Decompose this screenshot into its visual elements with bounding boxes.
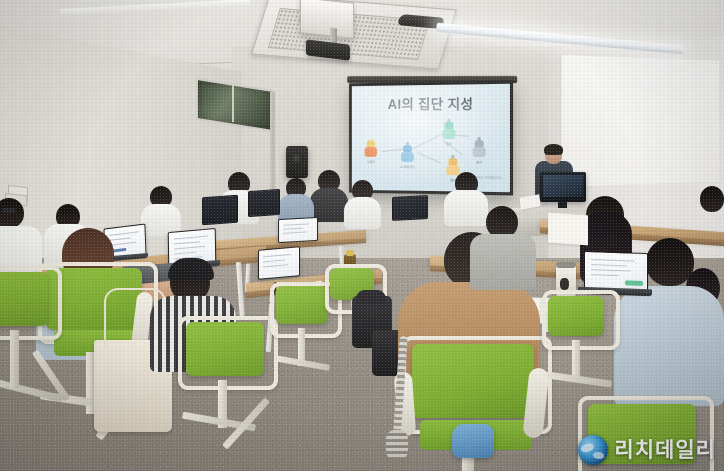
projector-mount — [300, 0, 354, 39]
bag-chain — [386, 430, 408, 460]
glasses-icon — [2, 208, 16, 213]
instructor-hair — [544, 144, 563, 155]
diagram-edge — [417, 152, 441, 164]
window-mullion — [232, 84, 234, 122]
laptop[interactable] — [248, 189, 280, 217]
diagram-edge — [413, 135, 440, 149]
node-body-icon — [442, 129, 455, 139]
node-body-icon — [446, 165, 459, 175]
monitor-screen — [543, 175, 583, 197]
floor-bag[interactable] — [452, 424, 494, 458]
chair-frame[interactable] — [542, 290, 620, 350]
attendee-torso — [344, 197, 381, 229]
backpack-flap — [356, 290, 386, 304]
classroom-photo: AI의 집단 지성 사용자 AI 에이전트 협업 — [0, 0, 724, 471]
attendee-torso — [470, 234, 536, 290]
speaker-cone-icon — [292, 154, 303, 165]
tumbler-graphic-icon — [560, 278, 569, 290]
globe-icon — [578, 435, 608, 465]
watermark: 리치데일리 — [578, 435, 716, 465]
laptop[interactable] — [392, 195, 428, 221]
tumbler-lid — [556, 262, 576, 268]
monitor-stand — [558, 201, 567, 208]
watermark-text: 리치데일리 — [614, 440, 716, 461]
node-body-icon — [473, 147, 486, 157]
slide-diagram: 사용자 AI 에이전트 협업 분석 결과 — [358, 117, 506, 180]
node-body-icon — [401, 152, 414, 162]
laptop[interactable] — [278, 217, 318, 243]
chair-post — [10, 330, 19, 388]
bottle-cap — [346, 250, 354, 256]
node-body-icon — [365, 147, 377, 157]
attendee-torso — [614, 286, 724, 406]
handout-papers[interactable] — [548, 213, 588, 246]
attendee-head — [700, 186, 724, 212]
cap-icon — [168, 258, 214, 280]
laptop[interactable] — [202, 195, 238, 226]
laptop[interactable] — [258, 246, 300, 280]
door-frame-edge — [270, 92, 275, 204]
attendee-torso — [444, 190, 488, 226]
whiteboard — [559, 55, 719, 187]
chair-frame[interactable] — [0, 266, 62, 340]
slide-title: AI의 집단 지성 — [362, 93, 500, 113]
chair-frame[interactable] — [178, 316, 278, 390]
attendee-head — [0, 198, 24, 228]
